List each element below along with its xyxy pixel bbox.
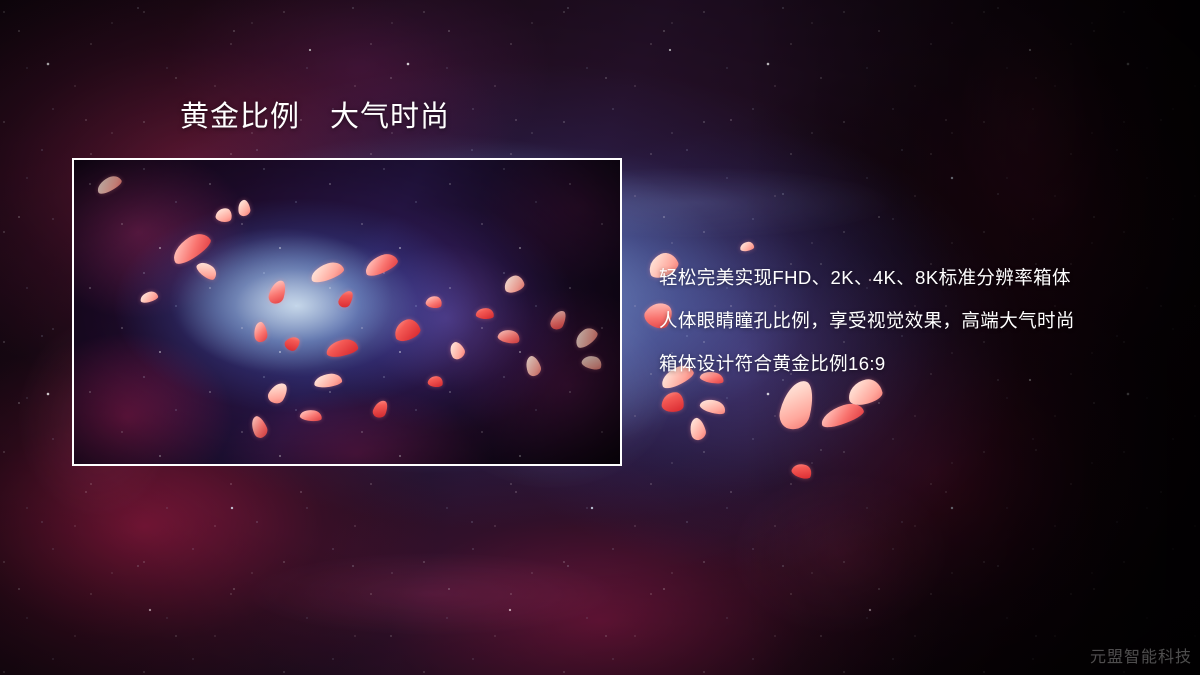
rose-petal (447, 340, 467, 362)
rose-petal (392, 316, 423, 343)
watermark: 元盟智能科技 (1090, 643, 1192, 667)
rose-petal (362, 250, 400, 278)
rose-petal (425, 294, 443, 309)
rose-petal (497, 328, 521, 346)
image-frame (72, 158, 622, 466)
rose-petal (168, 228, 214, 267)
slide-canvas: 黄金比例 大气时尚 轻松完美实现FHD、2K、4K、8K标准分辨率箱体 人体眼睛… (0, 0, 1200, 675)
rose-petal (572, 325, 600, 351)
body-line: 箱体设计符合黄金比例16:9 (659, 342, 1159, 385)
rose-petal (299, 409, 322, 423)
body-copy: 轻松完美实现FHD、2K、4K、8K标准分辨率箱体 人体眼睛瞳孔比例，享受视觉效… (659, 256, 1159, 385)
panel-vignette (72, 158, 622, 466)
rose-petal (253, 321, 269, 343)
panel-nebula (72, 158, 622, 466)
rose-petal (248, 414, 270, 440)
page-title: 黄金比例 大气时尚 (180, 101, 450, 134)
body-line: 轻松完美实现FHD、2K、4K、8K标准分辨率箱体 (659, 256, 1159, 299)
rose-petal (661, 391, 685, 413)
rose-petal (818, 400, 865, 431)
rose-petal (790, 461, 814, 481)
rose-petal (502, 274, 526, 295)
rose-petal (371, 398, 390, 420)
rose-petal (267, 278, 288, 305)
rose-petal (523, 354, 543, 378)
rose-petal (776, 377, 817, 433)
rose-petal (336, 288, 355, 310)
rose-petal (94, 173, 123, 196)
panel-starfield (72, 158, 622, 466)
body-line: 人体眼睛瞳孔比例，享受视觉效果，高端大气时尚 (659, 299, 1159, 342)
rose-petal (548, 308, 568, 332)
rose-petal (194, 258, 219, 282)
rose-petal (739, 241, 754, 252)
rose-petal (475, 307, 494, 320)
rose-petal (427, 375, 444, 388)
rose-petal (313, 373, 342, 389)
rose-petal (237, 199, 252, 217)
rose-petal (215, 206, 234, 223)
rose-petal (687, 416, 707, 441)
rose-petal (283, 334, 303, 354)
rose-petal (580, 353, 603, 372)
rose-petal (699, 396, 728, 416)
rose-petal (325, 337, 359, 358)
rose-petal (139, 290, 159, 304)
rose-petal (266, 379, 291, 406)
rose-petal (308, 259, 345, 285)
